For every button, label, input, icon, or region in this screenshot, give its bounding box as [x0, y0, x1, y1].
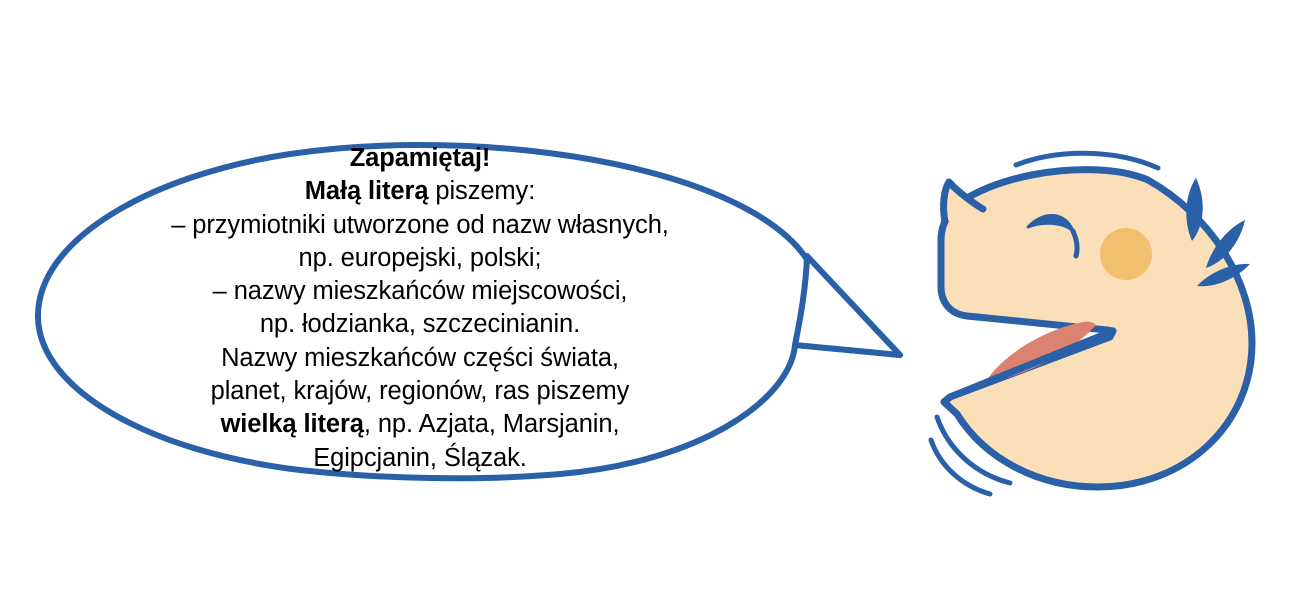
scene-vector-layer: [0, 0, 1303, 613]
mascot-head-body: [941, 170, 1252, 487]
mascot-group: [931, 153, 1252, 494]
mascot-cheek-blush: [1100, 228, 1152, 280]
speech-bubble-group: [38, 145, 900, 478]
bottom-motion-arc-2-icon: [931, 440, 990, 494]
top-motion-arc-icon: [1016, 153, 1158, 168]
speech-bubble-outline: [38, 145, 900, 478]
illustration-canvas: Zapamiętaj! Małą literą piszemy: – przym…: [0, 0, 1303, 613]
